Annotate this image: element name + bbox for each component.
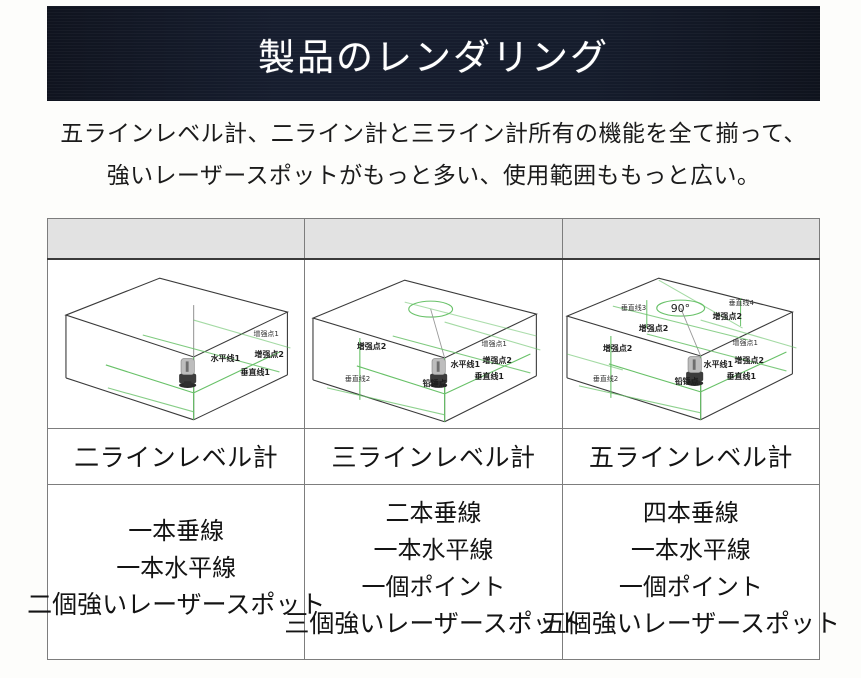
two-line-laser-room-diagram: 增强点1 增强点2 水平线1 垂直线1 [48, 260, 304, 428]
table-header-cell-2 [305, 219, 562, 259]
model-name-cell-2: 三ラインレベル計 [305, 428, 562, 484]
svg-text:垂直线2: 垂直线2 [593, 373, 618, 382]
model-name-cell-1: 二ラインレベル計 [48, 428, 305, 484]
svg-text:铅锤点: 铅锤点 [422, 377, 447, 387]
svg-text:垂直线2: 垂直线2 [345, 373, 370, 382]
svg-text:增强点2: 增强点2 [483, 354, 512, 364]
table-header-cell-3 [562, 219, 819, 259]
model-name-three-line: 三ラインレベル計 [332, 444, 536, 472]
page-title: 製品のレンダリング [258, 27, 609, 81]
svg-text:增强点2: 增强点2 [638, 323, 667, 333]
table-model-name-row: 二ラインレベル計 三ラインレベル計 五ラインレベル計 [48, 428, 820, 484]
model-name-cell-3: 五ラインレベル計 [562, 428, 819, 484]
feature-list-two-line: 一本垂線 一本水平線 二個強いレーザースポット [52, 493, 300, 645]
list-item: 二本垂線 [386, 496, 482, 531]
svg-text:水平线1: 水平线1 [702, 358, 732, 368]
header-banner: 製品のレンダリング [47, 6, 820, 101]
feature-cell-two-line: 一本垂線 一本水平線 二個強いレーザースポット [48, 484, 305, 659]
svg-text:垂直线4: 垂直线4 [728, 298, 754, 307]
table-feature-row: 一本垂線 一本水平線 二個強いレーザースポット 二本垂線 一本水平線 一個ポイン… [48, 484, 820, 659]
diagram-cell-two-line: 增强点1 增强点2 水平线1 垂直线1 [48, 259, 305, 429]
svg-text:铅锤点: 铅锤点 [673, 375, 698, 385]
subtitle-line-1: 五ラインレベル計、二ライン計と三ライン計所有の機能を全て揃って、 [47, 112, 820, 154]
svg-text:水平线1: 水平线1 [210, 352, 240, 362]
five-line-laser-room-diagram: 90° 垂直线3 垂直线4 增强点2 增强点2 增强点2 垂直线2 增强点1 增… [563, 260, 819, 428]
list-item: 二個強いレーザースポット [27, 588, 325, 623]
list-item: 一個ポイント [619, 570, 763, 605]
list-item: 四本垂線 [643, 496, 739, 531]
laser-lines [106, 305, 291, 420]
list-item: 三個強いレーザースポット [284, 607, 582, 642]
svg-text:增强点1: 增强点1 [482, 338, 507, 347]
feature-list-three-line: 二本垂線 一本水平線 一個ポイント 三個強いレーザースポット [309, 493, 557, 645]
list-item: 一本水平線 [631, 533, 751, 568]
feature-cell-five-line: 四本垂線 一本水平線 一個ポイント 五個強いレーザースポット [562, 484, 819, 659]
feature-list-five-line: 四本垂線 一本水平線 一個ポイント 五個強いレーザースポット [567, 493, 815, 645]
svg-text:增强点2: 增强点2 [734, 354, 763, 364]
svg-text:垂直线1: 垂直线1 [475, 370, 504, 380]
svg-text:垂直线1: 垂直线1 [241, 366, 270, 376]
svg-text:水平线1: 水平线1 [450, 358, 480, 368]
laser-level-device [179, 358, 196, 387]
page-root: 製品のレンダリング 五ラインレベル計、二ライン計と三ライン計所有の機能を全て揃っ… [0, 0, 861, 678]
svg-text:增强点2: 增强点2 [357, 340, 386, 350]
diagram-cell-five-line: 90° 垂直线3 垂直线4 增强点2 增强点2 增强点2 垂直线2 增强点1 增… [562, 259, 819, 429]
three-line-laser-room-diagram: 增强点2 垂直线2 增强点1 增强点2 水平线1 垂直线1 铅锤点 [305, 260, 561, 428]
list-item: 五個強いレーザースポット [542, 607, 840, 642]
table-header-cell-1 [48, 219, 305, 259]
diagram-cell-three-line: 增强点2 垂直线2 增强点1 增强点2 水平线1 垂直线1 铅锤点 [305, 259, 562, 429]
feature-cell-three-line: 二本垂線 一本水平線 一個ポイント 三個強いレーザースポット [305, 484, 562, 659]
svg-text:增强点1: 增强点1 [253, 329, 278, 338]
svg-text:垂直线1: 垂直线1 [726, 370, 755, 380]
list-item: 一本水平線 [116, 551, 236, 586]
svg-text:增强点2: 增强点2 [712, 311, 741, 321]
product-comparison-table: 增强点1 增强点2 水平线1 垂直线1 [47, 218, 820, 660]
table-diagram-row: 增强点1 增强点2 水平线1 垂直线1 [48, 259, 820, 429]
subtitle-line-2: 強いレーザースポットがもっと多い、使用範囲ももっと広い。 [47, 154, 820, 196]
svg-text:增强点2: 增强点2 [254, 348, 283, 358]
room-wireframe [567, 278, 792, 420]
svg-text:增强点2: 增强点2 [603, 342, 632, 352]
list-item: 一本垂線 [128, 514, 224, 549]
svg-text:垂直线3: 垂直线3 [621, 303, 646, 312]
model-name-two-line: 二ラインレベル計 [74, 444, 278, 472]
list-item: 一本水平線 [374, 533, 494, 568]
table-header-row [48, 219, 820, 259]
model-name-five-line: 五ラインレベル計 [589, 444, 793, 472]
list-item: 一個ポイント [362, 570, 506, 605]
angle-annotation-90: 90° [670, 302, 689, 315]
svg-text:增强点1: 增强点1 [732, 337, 757, 346]
subtitle-block: 五ラインレベル計、二ライン計と三ライン計所有の機能を全て揃って、 強いレーザース… [47, 112, 820, 196]
diagram-labels: 增强点2 垂直线2 增强点1 增强点2 水平线1 垂直线1 铅锤点 [345, 338, 512, 387]
